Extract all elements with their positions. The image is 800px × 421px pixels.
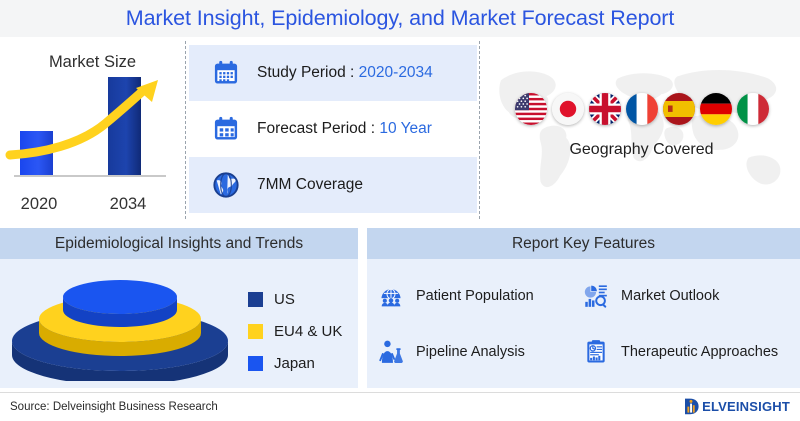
axis-label-start: 2020 xyxy=(0,195,78,214)
info-label: Study Period : xyxy=(257,64,359,81)
feature-market-outlook: Market Outlook xyxy=(582,268,787,324)
delveinsight-logo[interactable]: ELVEINSIGHT xyxy=(684,397,790,416)
globe-icon xyxy=(211,170,241,200)
geography-block: Geography Covered xyxy=(483,37,800,223)
epidemiology-panel: Epidemiological Insights and Trends xyxy=(0,228,358,388)
page-title: Market Insight, Epidemiology, and Market… xyxy=(126,6,674,31)
flag-france xyxy=(626,93,658,125)
market-analysis-icon xyxy=(582,282,610,310)
feature-label: Patient Population xyxy=(416,288,534,304)
stacked-cylinder-chart xyxy=(6,263,242,381)
flag-japan xyxy=(552,93,584,125)
info-value: 2020-2034 xyxy=(359,64,433,81)
legend-swatch xyxy=(248,324,263,339)
feature-label: Therapeutic Approaches xyxy=(621,344,778,360)
legend-item-japan: Japan xyxy=(248,347,342,379)
epidemiology-panel-header: Epidemiological Insights and Trends xyxy=(0,228,358,259)
legend-label: Japan xyxy=(274,355,315,372)
legend-swatch xyxy=(248,292,263,307)
info-row-text: Study Period : 2020-2034 xyxy=(257,64,433,82)
calendar-icon xyxy=(211,114,241,144)
epidemiology-legend: US EU4 & UK Japan xyxy=(248,283,342,379)
world-map-icon xyxy=(483,41,800,213)
market-size-axis-labels: 2020 2034 xyxy=(0,195,185,214)
feature-patient-population: Patient Population xyxy=(377,268,582,324)
feature-pipeline-analysis: Pipeline Analysis xyxy=(377,324,582,380)
market-size-chart xyxy=(8,79,178,199)
feature-therapeutic-approaches: Therapeutic Approaches xyxy=(582,324,787,380)
features-grid: Patient Population xyxy=(377,268,800,380)
info-row-study-period: Study Period : 2020-2034 xyxy=(189,45,477,101)
info-row-text: 7MM Coverage xyxy=(257,176,363,194)
flag-uk xyxy=(589,93,621,125)
legend-item-us: US xyxy=(248,283,342,315)
report-infographic: Market Insight, Epidemiology, and Market… xyxy=(0,0,800,420)
axis-label-end: 2034 xyxy=(88,195,168,214)
geography-label: Geography Covered xyxy=(483,141,800,159)
features-body: Patient Population xyxy=(367,259,800,388)
feature-label: Market Outlook xyxy=(621,288,719,304)
epidemiology-body: US EU4 & UK Japan xyxy=(0,259,358,388)
growth-arrow-icon xyxy=(8,79,178,199)
legend-label: EU4 & UK xyxy=(274,323,342,340)
legend-item-eu4-uk: EU4 & UK xyxy=(248,315,342,347)
info-label: Forecast Period : xyxy=(257,120,379,137)
logo-text: ELVEINSIGHT xyxy=(702,399,790,414)
info-row-coverage: 7MM Coverage xyxy=(189,157,477,213)
flag-spain xyxy=(663,93,695,125)
divider-left xyxy=(185,41,186,219)
source-text: Source: Delveinsight Business Research xyxy=(10,401,218,413)
feature-label: Pipeline Analysis xyxy=(416,344,525,360)
tier-japan xyxy=(63,280,177,327)
features-title: Report Key Features xyxy=(512,235,655,253)
info-row-text: Forecast Period : 10 Year xyxy=(257,120,432,138)
page-header: Market Insight, Epidemiology, and Market… xyxy=(0,0,800,38)
page-footer: Source: Delveinsight Business Research E… xyxy=(0,392,800,421)
market-size-title: Market Size xyxy=(0,53,185,72)
flag-list xyxy=(483,93,800,125)
info-row-forecast-period: Forecast Period : 10 Year xyxy=(189,101,477,157)
logo-mark-icon xyxy=(684,397,701,416)
study-info-list: Study Period : 2020-2034 xyxy=(189,45,477,215)
info-value: 10 Year xyxy=(379,120,432,137)
calendar-icon xyxy=(211,58,241,88)
top-section: Market Size 2020 2034 xyxy=(0,37,800,223)
population-globe-icon xyxy=(377,282,405,310)
flag-italy xyxy=(737,93,769,125)
epidemiology-title: Epidemiological Insights and Trends xyxy=(55,235,303,253)
info-label: 7MM Coverage xyxy=(257,176,363,193)
flag-germany xyxy=(700,93,732,125)
legend-swatch xyxy=(248,356,263,371)
divider-right xyxy=(479,41,480,219)
features-panel-header: Report Key Features xyxy=(367,228,800,259)
flag-usa xyxy=(515,93,547,125)
features-panel: Report Key Features xyxy=(367,228,800,388)
clipboard-report-icon xyxy=(582,338,610,366)
market-size-block: Market Size 2020 2034 xyxy=(0,37,185,223)
legend-label: US xyxy=(274,291,295,308)
pipeline-scientist-icon xyxy=(377,338,405,366)
